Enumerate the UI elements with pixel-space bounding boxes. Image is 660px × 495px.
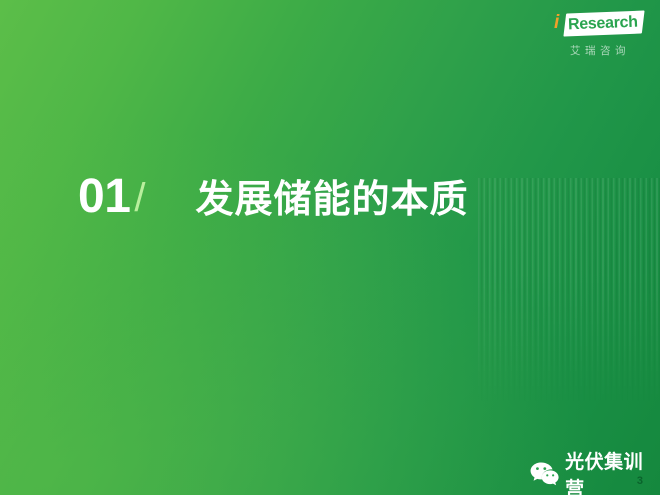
page-number: 3 — [637, 475, 643, 487]
footer-brand: 光伏集训营 — [530, 447, 660, 495]
vertical-stripe-texture — [478, 178, 660, 406]
section-title: 01 / 发展储能的本质 — [78, 173, 469, 221]
section-title-text: 发展储能的本质 — [196, 180, 469, 218]
section-number: 01 — [78, 173, 130, 221]
iresearch-logo: i Research 艾瑞咨询 — [552, 10, 644, 66]
logo-letter-i: i — [554, 12, 559, 33]
wechat-icon — [530, 461, 559, 487]
section-separator: / — [134, 178, 145, 218]
vertical-stripe-texture-shadow — [478, 178, 660, 406]
logo-chinese-name: 艾瑞咨询 — [556, 43, 644, 58]
footer-brand-label: 光伏集训营 — [565, 447, 660, 495]
logo-wordmark: Research — [568, 12, 638, 36]
iresearch-logo-mark: i Research — [552, 10, 644, 38]
slide-canvas: i Research 艾瑞咨询 01 / 发展储能的本质 光伏集训营 3 — [0, 0, 660, 495]
